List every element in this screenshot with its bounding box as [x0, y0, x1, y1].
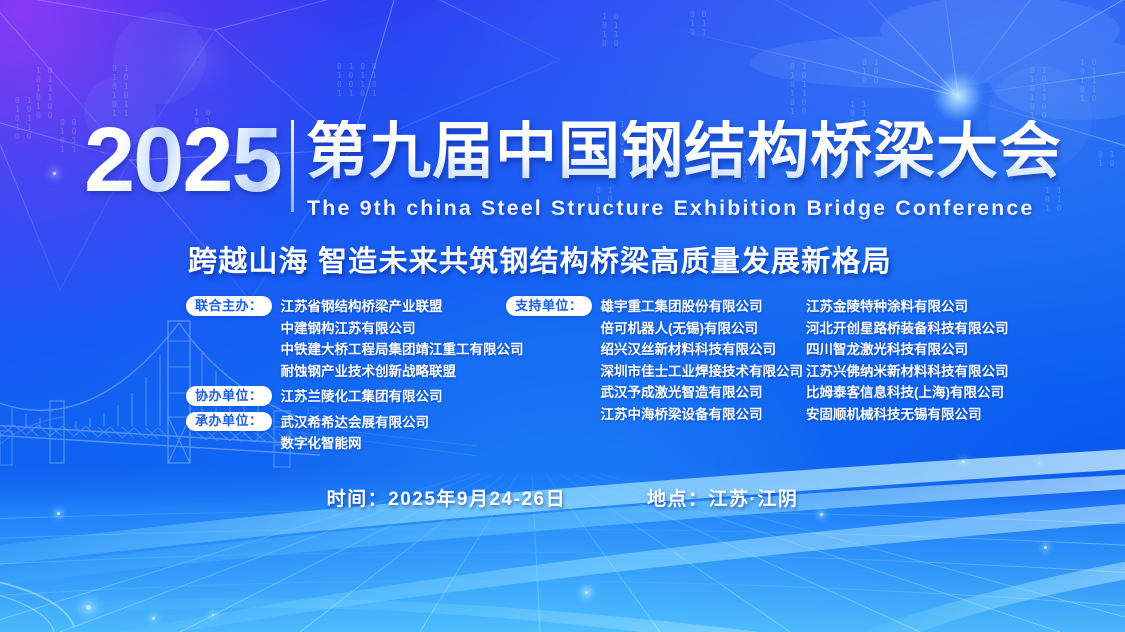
sparkle [57, 512, 60, 515]
sponsor-org: 绍兴汉丝新材料科技有限公司 [601, 339, 804, 361]
binary-decor: 1 0 0 1 1 1 0 0 [602, 12, 619, 48]
sponsor-org-list: 江苏省钢结构桥梁产业联盟 中建钢构江苏有限公司 中铁建大桥工程局集团靖江重工有限… [281, 296, 524, 382]
binary-decor: 1 0 0 1 1 1 0 1 1 0 [1080, 58, 1097, 103]
conference-banner: 0 1 1 0 0 1 1 1 0 0 1 0 0 1 1 1 0 1 1 0 … [0, 0, 1125, 632]
sponsor-group: 承办单位： 武汉希希达会展有限公司 数字化智能网 [186, 412, 516, 455]
sponsor-org-list: 武汉希希达会展有限公司 数字化智能网 [281, 412, 430, 455]
sponsor-org: 河北开创星路桥装备科技有限公司 [806, 318, 1009, 340]
sparkle [212, 614, 214, 616]
sparkle [86, 605, 91, 610]
sponsor-label-pill: 协办单位： [186, 386, 272, 406]
sponsor-org: 数字化智能网 [281, 433, 430, 455]
sponsor-org: 四川智龙激光科技有限公司 [806, 339, 1009, 361]
sponsor-group: 协办单位： 江苏兰陵化工集团有限公司 [186, 386, 516, 408]
sponsor-org: 江苏兰陵化工集团有限公司 [281, 386, 443, 408]
slogan: 跨越山海 智造未来共筑钢结构桥梁高质量发展新格局 [188, 238, 892, 280]
date-label: 时间： [327, 484, 389, 511]
sponsor-org: 江苏中海桥梁设备有限公司 [601, 404, 804, 426]
sparkle [962, 460, 965, 463]
sponsor-org: 江苏省钢结构桥梁产业联盟 [281, 296, 524, 318]
date-value: 2025年9月24-26日 [388, 484, 566, 511]
sponsor-org: 深圳市佳士工业焊接技术有限公司 [601, 361, 804, 383]
sponsor-column-left: 联合主办： 江苏省钢结构桥梁产业联盟 中建钢构江苏有限公司 中铁建大桥工程局集团… [186, 296, 516, 458]
location-label: 地点： [647, 484, 709, 511]
sponsor-org: 安固顺机械科技无锡有限公司 [806, 404, 1009, 426]
sponsor-org: 中建钢构江苏有限公司 [281, 318, 524, 340]
sponsor-group: 支持单位： 雄宇重工集团股份有限公司 倍可机器人(无锡)有限公司 绍兴汉丝新材料… [506, 296, 806, 425]
sparkle [585, 591, 588, 594]
sponsor-group: 联合主办： 江苏省钢结构桥梁产业联盟 中建钢构江苏有限公司 中铁建大桥工程局集团… [186, 296, 516, 382]
title-divider [291, 120, 294, 212]
main-title-en: The 9th china Steel Structure Exhibition… [307, 196, 1034, 221]
sponsor-org: 比姆泰客信息科技(上海)有限公司 [806, 382, 1009, 404]
sponsor-group: 江苏金陵特种涂料有限公司 河北开创星路桥装备科技有限公司 四川智龙激光科技有限公… [806, 296, 1106, 425]
sponsor-org-list: 雄宇重工集团股份有限公司 倍可机器人(无锡)有限公司 绍兴汉丝新材料科技有限公司… [601, 296, 804, 425]
sponsor-section: 联合主办： 江苏省钢结构桥梁产业联盟 中建钢构江苏有限公司 中铁建大桥工程局集团… [0, 296, 1125, 456]
sparkle [820, 513, 823, 516]
sparkle [1038, 462, 1040, 464]
sponsor-org: 武汉希希达会展有限公司 [281, 412, 430, 434]
sponsor-org: 雄宇重工集团股份有限公司 [601, 296, 804, 318]
sparkle [1044, 546, 1047, 549]
binary-decor: 1 0 0 1 1 1 0 1 1 0 0 0 [36, 66, 53, 120]
sponsor-org: 中铁建大桥工程局集团靖江重工有限公司 [281, 339, 524, 361]
binary-decor: 0 1 1 0 0 1 1 1 0 0 1 0 [790, 62, 807, 116]
binary-decor: 0 0 1 1 0 1 [690, 10, 707, 37]
sponsor-column-middle: 支持单位： 雄宇重工集团股份有限公司 倍可机器人(无锡)有限公司 绍兴汉丝新材料… [506, 296, 806, 429]
sponsor-org: 江苏兴佛纳米新材料科技有限公司 [806, 361, 1009, 383]
glow-node-right [958, 96, 960, 98]
sponsor-org-list: 江苏兰陵化工集团有限公司 [281, 386, 443, 408]
sponsor-org: 江苏金陵特种涂料有限公司 [806, 296, 1009, 318]
sponsor-org: 武汉予成激光智造有限公司 [601, 382, 804, 404]
light-ribbon-floor [0, 442, 1125, 632]
sponsor-org-list: 江苏金陵特种涂料有限公司 河北开创星路桥装备科技有限公司 四川智龙激光科技有限公… [806, 296, 1009, 425]
sponsor-column-right: 江苏金陵特种涂料有限公司 河北开创星路桥装备科技有限公司 四川智龙激光科技有限公… [806, 296, 1106, 429]
location-value: 江苏·江阴 [709, 484, 799, 511]
sparkle [152, 617, 155, 620]
year-2025: 2025 [84, 114, 281, 206]
sponsor-label-pill: 承办单位： [186, 412, 272, 432]
sponsor-label-pill: 联合主办： [186, 296, 272, 316]
sponsor-org: 倍可机器人(无锡)有限公司 [601, 318, 804, 340]
binary-decor: 0 1 1 0 0 0 [862, 58, 879, 85]
glow-node-left [196, 58, 199, 61]
main-title-cn: 第九届中国钢结构桥梁大会 [306, 120, 1062, 183]
sponsor-org: 耐蚀钢产业技术创新战略联盟 [281, 361, 524, 383]
event-info-bar: 时间：2025年9月24-26日 地点：江苏·江阴 [0, 484, 1125, 511]
binary-decor: 0 1 0 0 1 0 1 1 0 0 1 0 1 1 0 1 [337, 62, 378, 98]
sponsor-label-pill: 支持单位： [506, 296, 592, 316]
binary-decor: 0 1 1 0 0 1 1 1 0 0 1 0 [1030, 66, 1047, 120]
